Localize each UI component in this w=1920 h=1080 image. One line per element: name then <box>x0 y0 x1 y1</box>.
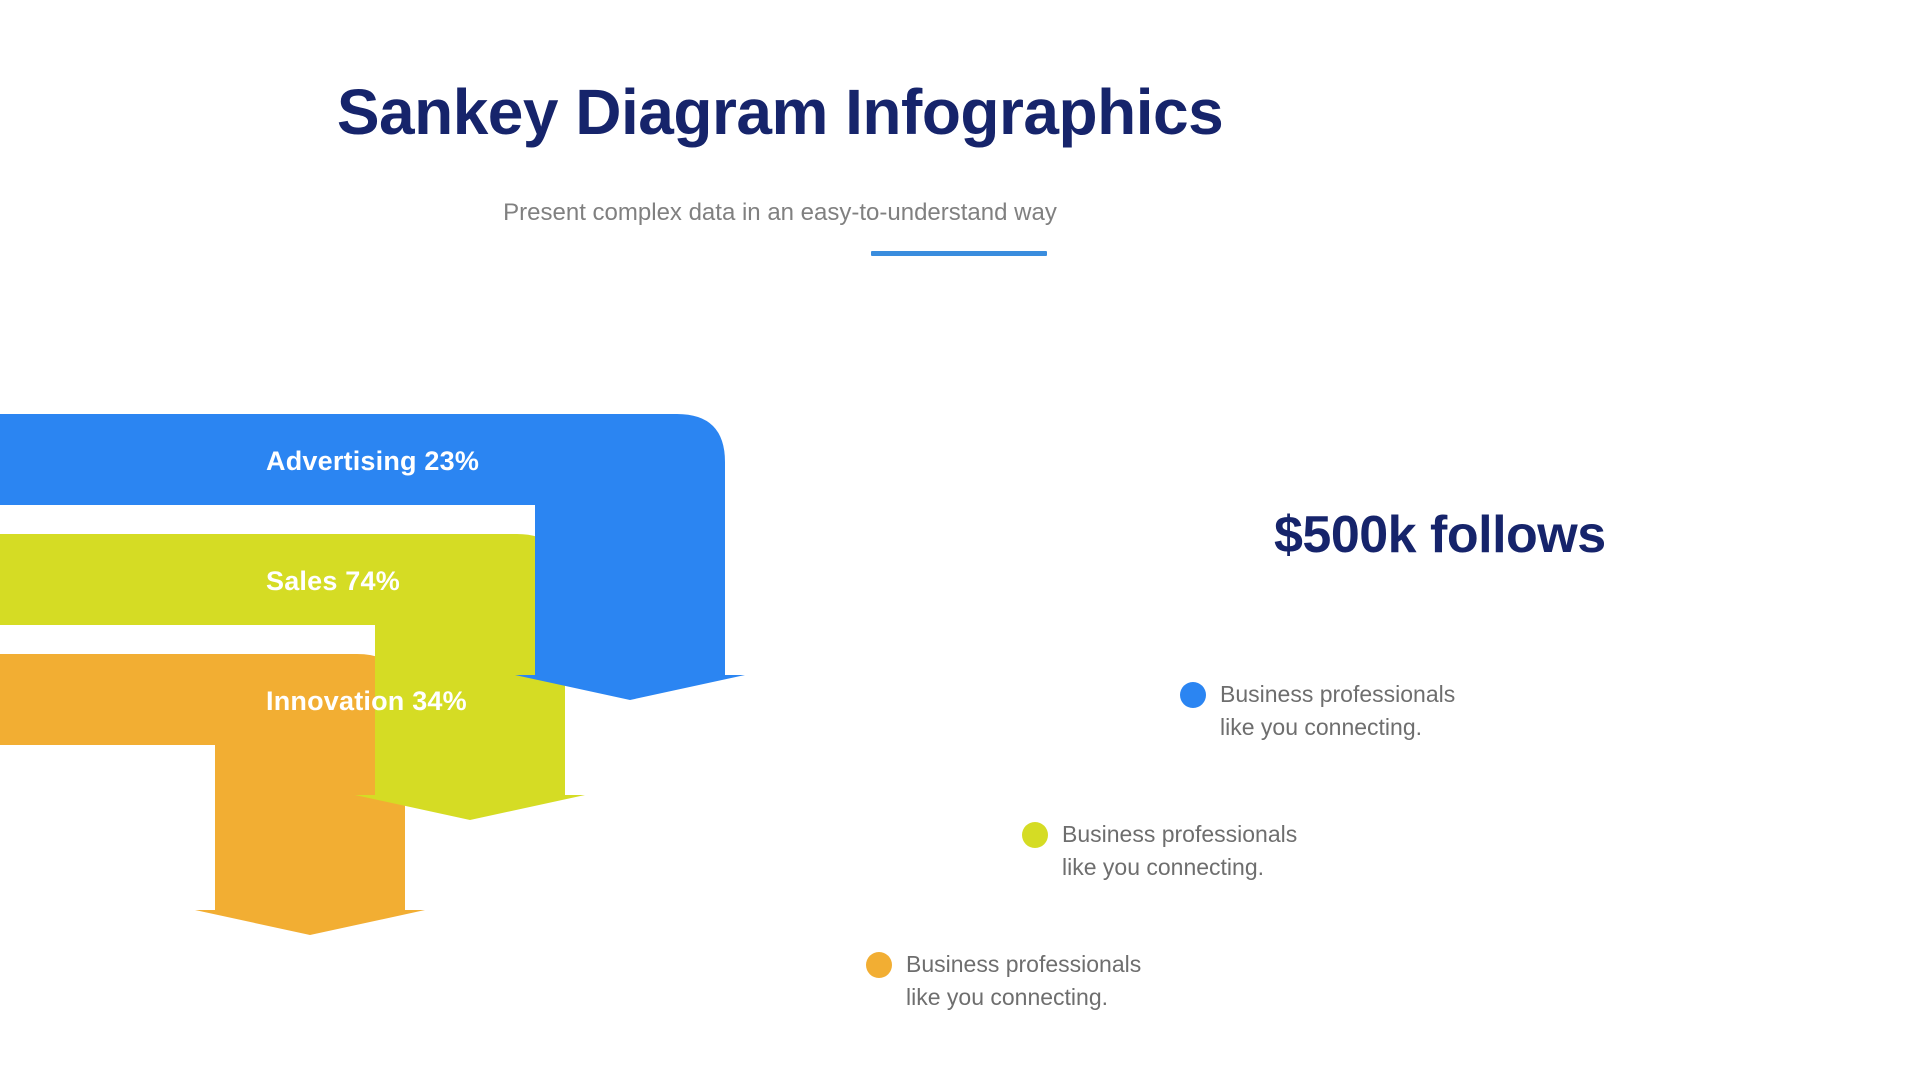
flow-label-innovation: Innovation 34% <box>266 686 467 717</box>
page-subtitle: Present complex data in an easy-to-under… <box>0 199 1560 228</box>
legend-dot-icon <box>1180 682 1206 708</box>
legend-item-label: Business professionals like you connecti… <box>906 948 1141 1013</box>
flow-label-advertising: Advertising 23% <box>266 446 479 477</box>
legend-item-label: Business professionals like you connecti… <box>1220 678 1455 743</box>
legend-item-innovation[interactable]: Business professionals like you connecti… <box>866 948 1141 1013</box>
slide-canvas: Sankey Diagram Infographics Present comp… <box>0 0 1920 1080</box>
legend-item-label: Business professionals like you connecti… <box>1062 818 1297 883</box>
sankey-diagram <box>0 400 1180 960</box>
title-divider <box>871 251 1047 256</box>
flow-label-sales: Sales 74% <box>266 566 400 597</box>
legend-item-advertising[interactable]: Business professionals like you connecti… <box>1180 678 1455 743</box>
legend-dot-icon <box>866 952 892 978</box>
legend-item-sales[interactable]: Business professionals like you connecti… <box>1022 818 1297 883</box>
sankey-svg <box>0 400 1180 960</box>
legend-dot-icon <box>1022 822 1048 848</box>
total-amount-heading: $500k follows <box>1274 505 1606 565</box>
page-title: Sankey Diagram Infographics <box>0 80 1560 144</box>
